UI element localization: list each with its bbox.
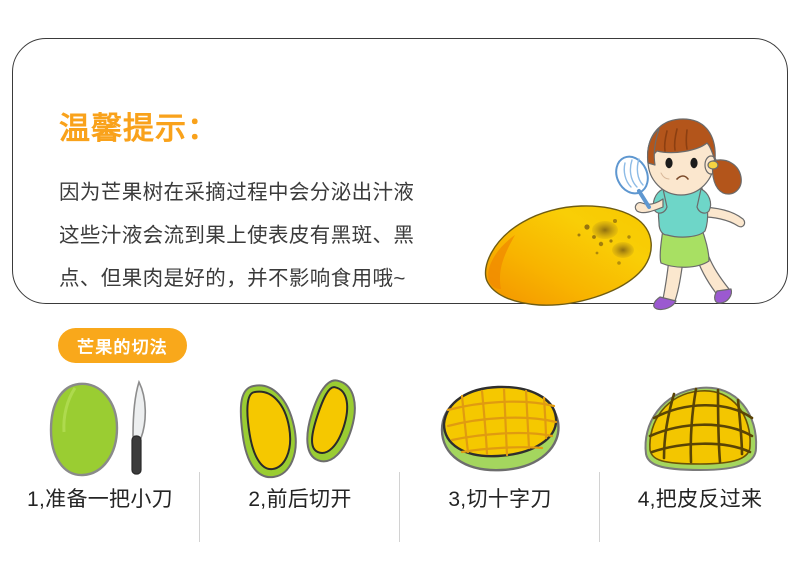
- section-badge: 芒果的切法: [58, 328, 187, 363]
- mango-inverted-cubes-icon: [630, 376, 770, 481]
- mango-crosshatch-scored-icon: [430, 376, 570, 481]
- step-label-3: 3,切十字刀: [448, 483, 551, 513]
- step-item-1: 1,准备一把小刀: [0, 376, 200, 541]
- step-label-4: 4,把皮反过来: [638, 483, 763, 513]
- step-item-4: 4,把皮反过来: [600, 376, 800, 541]
- notice-body-line-3: 点、但果肉是好的，并不影响食用哦~: [59, 257, 489, 300]
- two-mango-halves-icon: [230, 376, 370, 481]
- notice-body-line-1: 因为芒果树在采摘过程中会分泌出汁液: [59, 171, 489, 214]
- notice-card: 温馨提示： 因为芒果树在采摘过程中会分泌出汁液 这些汁液会流到果上使表皮有黑斑、…: [12, 38, 788, 304]
- notice-body: 因为芒果树在采摘过程中会分泌出汁液 这些汁液会流到果上使表皮有黑斑、黑 点、但果…: [59, 171, 489, 300]
- cutting-steps-row: 1,准备一把小刀 2,前后切开: [0, 376, 800, 541]
- step-label-2: 2,前后切开: [248, 483, 351, 513]
- girl-with-magnifier-illustration: [601, 111, 749, 316]
- notice-title: 温馨提示：: [59, 113, 219, 144]
- step-label-1: 1,准备一把小刀: [27, 483, 173, 513]
- step-item-3: 3,切十字刀: [400, 376, 600, 541]
- whole-green-mango-with-knife-icon: [35, 376, 165, 481]
- step-item-2: 2,前后切开: [200, 376, 400, 541]
- notice-body-line-2: 这些汁液会流到果上使表皮有黑斑、黑: [59, 214, 489, 257]
